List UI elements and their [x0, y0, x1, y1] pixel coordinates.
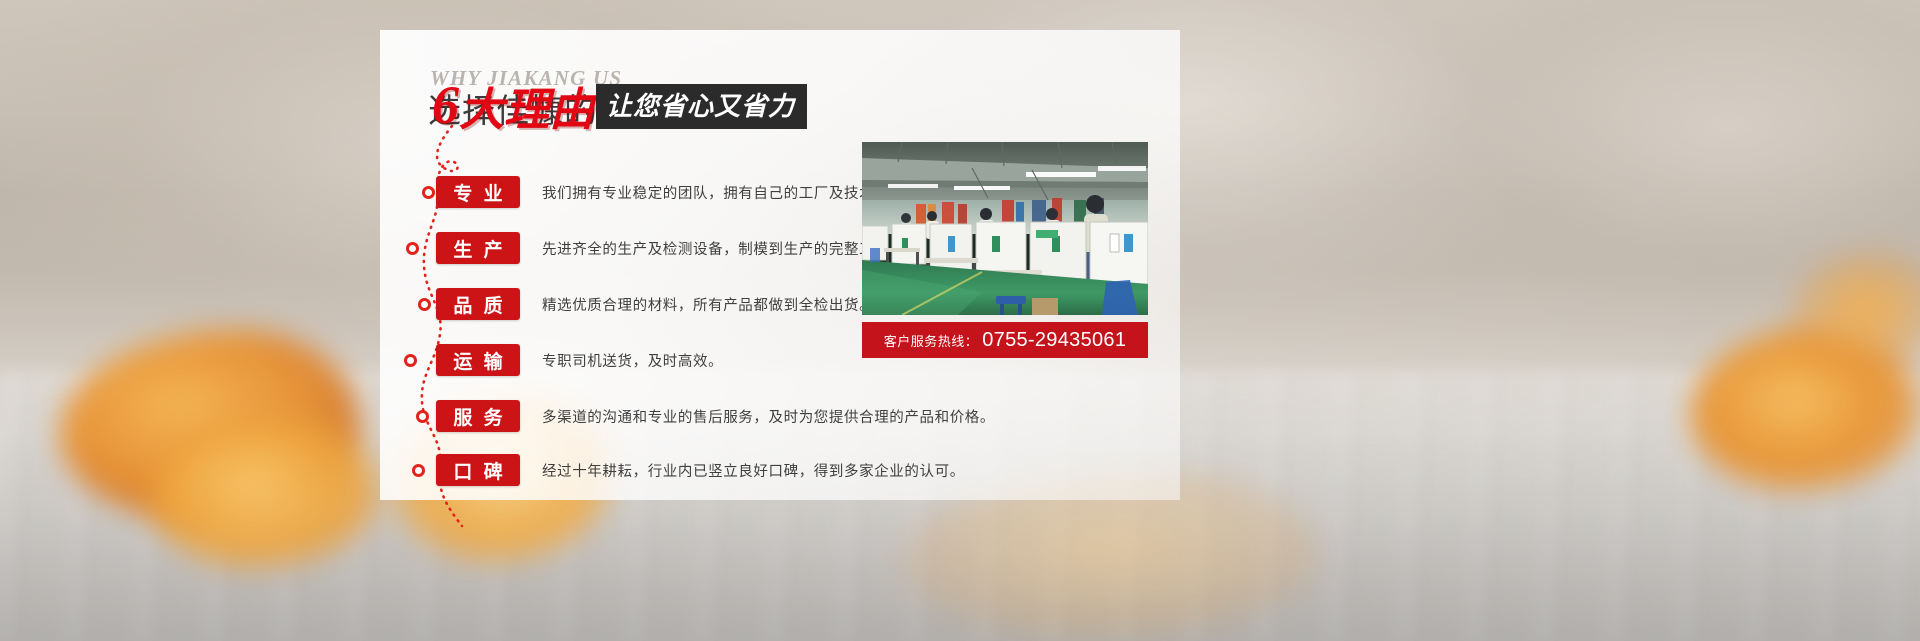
- reason-text-4: 专职司机送货，及时高效。: [542, 350, 723, 371]
- path-node-icon: [422, 186, 435, 199]
- reason-row-2[interactable]: 生 产 先进齐全的生产及检测设备，制模到生产的完整工艺。: [436, 232, 904, 264]
- path-node-icon: [406, 242, 419, 255]
- reason-badge-4: 运 输: [436, 344, 520, 376]
- path-node-icon: [418, 298, 431, 311]
- reason-row-6[interactable]: 口 碑 经过十年耕耘，行业内已竖立良好口碑，得到多家企业的认可。: [436, 454, 965, 486]
- reason-badge-6: 口 碑: [436, 454, 520, 486]
- hotline-label: 客户服务热线：: [884, 331, 979, 350]
- reason-text-2: 先进齐全的生产及检测设备，制模到生产的完整工艺。: [542, 238, 904, 259]
- reason-badge-3: 品 质: [436, 288, 520, 320]
- reason-badge-1: 专 业: [436, 176, 520, 208]
- reason-badge-5: 服 务: [436, 400, 520, 432]
- reason-row-3[interactable]: 品 质 精选优质合理的材料，所有产品都做到全检出货。: [436, 288, 874, 320]
- hotline-bar[interactable]: 客户服务热线： 0755-29435061: [862, 322, 1148, 358]
- reason-badge-2: 生 产: [436, 232, 520, 264]
- banner-stage: WHY JIAKANG US 选择佳慷的 6 大理由 让您省心又省力 专 业 我…: [0, 0, 1920, 641]
- hotline-number: 0755-29435061: [982, 329, 1126, 352]
- path-node-icon: [412, 464, 425, 477]
- factory-photo-illustration: [862, 142, 1148, 315]
- reason-text-3: 精选优质合理的材料，所有产品都做到全检出货。: [542, 294, 874, 315]
- reason-text-1: 我们拥有专业稳定的团队，拥有自己的工厂及技术。: [542, 182, 889, 203]
- reason-text-5: 多渠道的沟通和专业的售后服务，及时为您提供合理的产品和价格。: [542, 406, 995, 427]
- factory-photo: [862, 142, 1148, 315]
- path-node-icon: [404, 354, 417, 367]
- reason-row-1[interactable]: 专 业 我们拥有专业稳定的团队，拥有自己的工厂及技术。: [436, 176, 889, 208]
- reason-row-5[interactable]: 服 务 多渠道的沟通和专业的售后服务，及时为您提供合理的产品和价格。: [436, 400, 995, 432]
- content-card: WHY JIAKANG US 选择佳慷的 6 大理由 让您省心又省力 专 业 我…: [380, 30, 1180, 500]
- reason-text-6: 经过十年耕耘，行业内已竖立良好口碑，得到多家企业的认可。: [542, 460, 965, 481]
- reason-row-4[interactable]: 运 输 专职司机送货，及时高效。: [436, 344, 723, 376]
- path-node-icon: [416, 410, 429, 423]
